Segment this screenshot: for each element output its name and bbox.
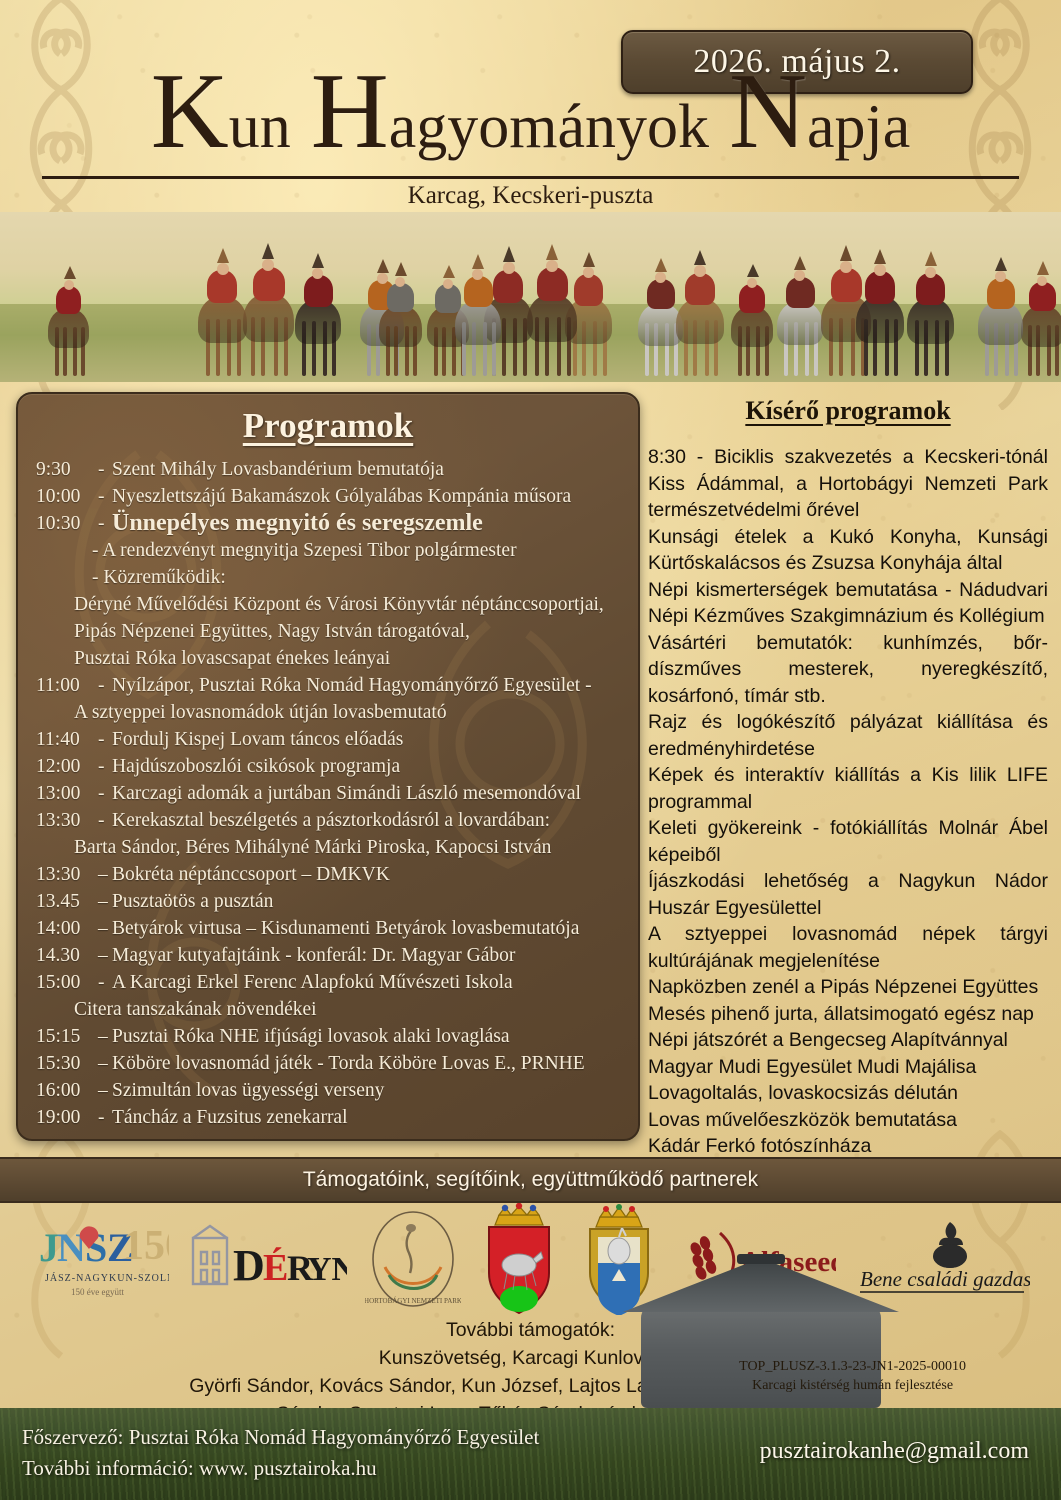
program-text: Bokréta néptánccsoport – DMKVK [112, 861, 628, 888]
horse-body [455, 301, 501, 345]
program-row: 11:40- Fordulj Kispej Lovam táncos előad… [36, 726, 628, 753]
deryne-logo: D É R YN [187, 1209, 347, 1309]
program-dash: - [98, 726, 112, 753]
side-program-item: Magyar Mudi Egyesület Mudi Majálisa [648, 1054, 1048, 1081]
rider-hat-icon [262, 243, 274, 259]
program-time: 15:15 [36, 1023, 98, 1050]
program-text: Betyárok virtusa – Kisdunamenti Betyárok… [112, 915, 628, 942]
program-time: 13:00 [36, 780, 98, 807]
program-row: 13.45–Pusztaötös a pusztán [36, 888, 628, 915]
rider-figure [295, 271, 341, 376]
program-time: 11:00 [36, 672, 98, 699]
rider-hat-icon [995, 257, 1007, 271]
rider-hat-icon [747, 264, 759, 277]
rider-figure [527, 263, 577, 376]
rider-figure [676, 268, 724, 376]
program-row: 14:00–Betyárok virtusa – Kisdunamenti Be… [36, 915, 628, 942]
program-time: 15:30 [36, 1050, 98, 1077]
hortobagyi-nemzeti-park-logo: HORTOBÁGYI NEMZETI PARK [365, 1209, 461, 1309]
program-time: 19:00 [36, 1104, 98, 1131]
rider-head [583, 267, 594, 278]
rider-hat-icon [655, 258, 667, 272]
program-dash: – [98, 888, 112, 915]
side-program-item: Lovagoltalás, lovaskocsizás délután [648, 1080, 1048, 1107]
rider-hat-icon [1037, 261, 1049, 275]
rider-torso [1029, 282, 1056, 311]
title-rest: un [229, 93, 291, 161]
program-time: 13:30 [36, 861, 98, 888]
program-dash: - [98, 510, 112, 537]
program-dash: – [98, 861, 112, 888]
title-rest: agyományok [389, 93, 709, 161]
rider-torso [537, 267, 568, 301]
rider-head [655, 272, 666, 283]
side-programs-title: Kísérő programok [648, 396, 1048, 426]
event-location: Karcag, Kecskeri-puszta [0, 182, 1061, 210]
rider-head [503, 262, 515, 274]
program-text: - A rendezvényt megnyitja Szepesi Tibor … [92, 537, 628, 564]
rider-head [443, 279, 453, 289]
rider-hat-icon [64, 266, 76, 279]
rider-figure [455, 272, 501, 376]
program-text: Kerekasztal beszélgetés a pásztorkodásró… [112, 807, 628, 834]
rider-torso [464, 276, 493, 307]
side-program-item: Lovas művelőeszközök bemutatása [648, 1107, 1048, 1134]
program-text: Pusztai Róka lovascsapat énekes leányai [74, 645, 628, 672]
program-row: 10:00-Nyeszlettszájú Bakamászok Gólyaláb… [36, 483, 628, 510]
title-cap: K [151, 52, 229, 171]
rider-torso [574, 274, 603, 306]
rider-head [995, 271, 1006, 282]
program-dash: – [98, 915, 112, 942]
rider-hat-icon [925, 251, 937, 266]
side-program-item: Keleti gyökereink - fotókiállítás Molnár… [648, 815, 1048, 868]
rider-hat-icon [694, 250, 706, 265]
program-text: Barta Sándor, Béres Mihályné Márki Piros… [74, 834, 628, 861]
rider-head [262, 259, 274, 271]
rider-head [694, 265, 706, 277]
svg-text:J: J [39, 1225, 59, 1270]
rider-figure [48, 282, 89, 376]
svg-text:YN: YN [307, 1251, 347, 1288]
jasz-nagykun-szolnok-logo: J N S Z 150 JÁSZ-NAGYKUN-SZOLNOK 150 éve… [31, 1209, 169, 1309]
rider-head [747, 278, 757, 288]
rider-head [472, 269, 483, 280]
side-program-item: Népi kismerterségek bemutatása - Nádudva… [648, 577, 1048, 630]
footer-left-text: Főszervező: Pusztai Róka Nomád Hagyomány… [22, 1422, 539, 1484]
sponsors-heading-bar: Támogatóink, segítőink, együttműködő par… [0, 1157, 1061, 1203]
rider-head [395, 277, 405, 287]
rider-hat-icon [503, 246, 515, 262]
program-text: Táncház a Fuzsitus zenekarral [112, 1104, 628, 1131]
program-time: 12:00 [36, 753, 98, 780]
contact-email[interactable]: pusztairokanhe@gmail.com [760, 1438, 1029, 1465]
rider-torso [786, 277, 815, 308]
rider-figure [243, 262, 294, 376]
rider-torso [253, 267, 285, 301]
program-text: Nyílzápor, Pusztai Róka Nomád Hagyományő… [112, 672, 628, 699]
rider-head [217, 263, 229, 275]
rider-figure [198, 266, 247, 376]
program-time: 14.30 [36, 942, 98, 969]
event-poster: 2026. május 2. Kun Hagyományok Napja Kar… [0, 0, 1061, 1500]
yurt-roof [623, 1258, 899, 1312]
program-text: Citera tanszakának növendékei [74, 996, 628, 1023]
program-row: 13:30-Kerekasztal beszélgetés a pásztork… [36, 807, 628, 834]
side-program-item: Rajz és logókészítő pályázat kiállítása … [648, 709, 1048, 762]
program-dash: - [98, 969, 112, 996]
program-time: 15:00 [36, 969, 98, 996]
program-dash: - [98, 483, 112, 510]
rider-hat-icon [546, 244, 558, 260]
program-row: Barta Sándor, Béres Mihályné Márki Piros… [36, 834, 628, 861]
sponsors-heading-text: Támogatóink, segítőink, együttműködő par… [303, 1168, 758, 1192]
program-row: 13:30–Bokréta néptánccsoport – DMKVK [36, 861, 628, 888]
horse-body [1021, 306, 1061, 347]
program-row: 15:00-A Karcagi Erkel Ferenc Alapfokú Mű… [36, 969, 628, 996]
program-dash: – [98, 942, 112, 969]
side-programs-panel: Kísérő programok 8:30 - Biciklis szakvez… [648, 392, 1048, 1160]
info-url[interactable]: További információ: www. pusztairoka.hu [22, 1453, 539, 1484]
program-text: Hajdúszoboszlói csikósok programja [112, 753, 628, 780]
program-time: 13.45 [36, 888, 98, 915]
program-row: 12:00-Hajdúszoboszlói csikósok programja [36, 753, 628, 780]
program-row: Pusztai Róka lovascsapat énekes leányai [36, 645, 628, 672]
program-dash: - [98, 456, 112, 483]
program-text: Nyeszlettszájú Bakamászok Gólyalábas Kom… [112, 483, 628, 510]
programs-title: Programok [18, 406, 638, 446]
rider-hat-icon [217, 248, 229, 263]
organizer-text: Főszervező: Pusztai Róka Nomád Hagyomány… [22, 1422, 539, 1453]
horse-body [676, 299, 724, 344]
program-row: 14.30–Magyar kutyafajtáink - konferál: D… [36, 942, 628, 969]
program-time: 16:00 [36, 1077, 98, 1104]
program-dash: – [98, 1023, 112, 1050]
rider-torso [647, 279, 675, 309]
horsemen-banner-image [0, 212, 1061, 382]
side-program-item: Napközben zenél a Pipás Népzenei Együtte… [648, 974, 1048, 1001]
program-row: 9:30-Szent Mihály Lovasbandérium bemutat… [36, 456, 628, 483]
horse-body [777, 302, 823, 345]
yurt-crown [737, 1254, 785, 1264]
rider-head [794, 270, 805, 281]
side-program-item: Képek és interaktív kiállítás a Kis lili… [648, 762, 1048, 815]
svg-text:150: 150 [123, 1223, 169, 1269]
page-title: Kun Hagyományok Napja [0, 58, 1061, 166]
rider-torso [739, 284, 765, 313]
program-row: - A rendezvényt megnyitja Szepesi Tibor … [36, 537, 628, 564]
program-row: - Közreműködik: [36, 564, 628, 591]
svg-text:HORTOBÁGYI NEMZETI PARK: HORTOBÁGYI NEMZETI PARK [365, 1297, 461, 1305]
rider-figure [856, 267, 904, 376]
program-time: 10:30 [36, 510, 98, 537]
project-description: Karcagi kistérség humán fejlesztése [739, 1376, 966, 1395]
title-divider [42, 176, 1019, 179]
side-programs-list: 8:30 - Biciklis szakvezetés a Kecskeri-t… [648, 444, 1048, 1160]
program-time: 14:00 [36, 915, 98, 942]
rider-hat-icon [395, 262, 407, 276]
title-rest: apja [807, 93, 910, 161]
rider-hat-icon [583, 252, 595, 267]
program-row: 19:00-Táncház a Fuzsitus zenekarral [36, 1104, 628, 1131]
program-text: Fordulj Kispej Lovam táncos előadás [112, 726, 628, 753]
svg-text:É: É [263, 1247, 288, 1289]
rider-head [312, 268, 323, 279]
rider-torso [387, 283, 414, 312]
programs-list: 9:30-Szent Mihály Lovasbandérium bemutat… [18, 456, 638, 1131]
rider-torso [304, 275, 333, 307]
project-code: TOP_PLUSZ-3.1.3-23-JN1-2025-00010 [739, 1357, 966, 1376]
horse-body [731, 307, 773, 347]
rider-figure [731, 280, 773, 376]
poster-header: 2026. május 2. Kun Hagyományok Napja Kar… [0, 0, 1061, 215]
rider-head [64, 280, 74, 290]
rider-hat-icon [874, 249, 886, 264]
program-dash: - [98, 780, 112, 807]
svg-text:150 éve együtt: 150 éve együtt [71, 1287, 124, 1297]
program-text: Szent Mihály Lovasbandérium bemutatója [112, 456, 628, 483]
rider-head [874, 264, 886, 276]
program-dash: - [98, 753, 112, 780]
project-info: TOP_PLUSZ-3.1.3-23-JN1-2025-00010 Karcag… [739, 1357, 966, 1395]
horse-body [48, 309, 89, 348]
rider-head [925, 267, 936, 278]
rider-figure [978, 274, 1023, 376]
title-word-3: Napja [729, 58, 910, 166]
side-program-item: Kádár Ferkó fotószínháza [648, 1133, 1048, 1160]
program-dash: - [98, 1104, 112, 1131]
rider-figure [1021, 278, 1061, 376]
program-row: 10:30-Ünnepélyes megnyitó és seregszemle [36, 510, 628, 537]
rider-hat-icon [794, 256, 806, 270]
program-text: Pusztai Róka NHE ifjúsági lovasok alaki … [112, 1023, 628, 1050]
karcag-cimer-logo [479, 1209, 559, 1309]
program-text: Pusztaötös a pusztán [112, 888, 628, 915]
programs-panel: Programok 9:30-Szent Mihály Lovasbandéri… [16, 392, 640, 1141]
program-time: 13:30 [36, 807, 98, 834]
horse-body [527, 295, 577, 342]
program-text: A Karcagi Erkel Ferenc Alapfokú Művészet… [112, 969, 628, 996]
horse-body [243, 294, 294, 342]
horse-body [907, 299, 954, 344]
program-row: Déryné Művelődési Központ és Városi Köny… [36, 591, 628, 618]
rider-hat-icon [377, 259, 389, 273]
program-text: Karczagi adomák a jurtában Simándi Lászl… [112, 780, 628, 807]
side-program-item: Kunsági ételek a Kukó Konyha, Kunsági Kü… [648, 524, 1048, 577]
title-cap: H [311, 52, 389, 171]
program-row: Citera tanszakának növendékei [36, 996, 628, 1023]
svg-text:D: D [233, 1241, 265, 1290]
program-dash: – [98, 1077, 112, 1104]
program-text: Déryné Művelődési Központ és Városi Köny… [74, 591, 628, 618]
program-row: 11:00-Nyílzápor, Pusztai Róka Nomád Hagy… [36, 672, 628, 699]
program-text: Szimultán lovas ügyességi verseny [112, 1077, 628, 1104]
rider-head [546, 260, 558, 272]
title-cap: N [729, 52, 807, 171]
rider-torso [56, 286, 81, 314]
program-row: 15:30–Köböre lovasnomád játék - Torda Kö… [36, 1050, 628, 1077]
program-text: Ünnepélyes megnyitó és seregszemle [112, 510, 628, 537]
horse-body [198, 297, 247, 343]
poster-footer: Főszervező: Pusztai Róka Nomád Hagyomány… [0, 1408, 1061, 1500]
program-text: Magyar kutyafajtáink - konferál: Dr. Mag… [112, 942, 628, 969]
rider-hat-icon [840, 245, 852, 261]
program-row: Pipás Népzenei Együttes, Nagy István tár… [36, 618, 628, 645]
side-program-item: Íjászkodási lehetőség a Nagykun Nádor Hu… [648, 868, 1048, 921]
svg-text:JÁSZ-NAGYKUN-SZOLNOK: JÁSZ-NAGYKUN-SZOLNOK [45, 1272, 169, 1284]
program-dash: – [98, 1050, 112, 1077]
side-program-item: 8:30 - Biciklis szakvezetés a Kecskeri-t… [648, 444, 1048, 524]
program-row: 16:00–Szimultán lovas ügyességi verseny [36, 1077, 628, 1104]
main-content: Programok 9:30-Szent Mihály Lovasbandéri… [0, 382, 1061, 1152]
program-row: 15:15–Pusztai Róka NHE ifjúsági lovasok … [36, 1023, 628, 1050]
title-word-1: Kun [151, 58, 291, 166]
rider-hat-icon [312, 253, 324, 268]
rider-figure [907, 269, 954, 376]
rider-hat-icon [443, 265, 455, 278]
rider-figure [379, 279, 422, 376]
side-program-item: Népi játszórét a Bengecseg Alapítvánnyal [648, 1027, 1048, 1054]
horse-body [379, 306, 422, 347]
program-row: A sztyeppei lovasnomádok útján lovasbemu… [36, 699, 628, 726]
program-time: 9:30 [36, 456, 98, 483]
side-program-item: Mesés pihenő jurta, állatsimogató egész … [648, 1001, 1048, 1028]
program-time: 10:00 [36, 483, 98, 510]
program-text: A sztyeppei lovasnomádok útján lovasbemu… [74, 699, 628, 726]
rider-head [840, 261, 852, 273]
rider-torso [987, 278, 1015, 309]
rider-hat-icon [472, 254, 484, 269]
program-text: - Közreműködik: [92, 564, 628, 591]
side-program-item: Vásártéri bemutatók: kunhímzés, bőr-dísz… [648, 630, 1048, 710]
title-word-2: Hagyományok [311, 58, 709, 166]
program-text: Pipás Népzenei Együttes, Nagy István tár… [74, 618, 628, 645]
side-program-item: A sztyeppei lovasnomád népek tárgyi kult… [648, 921, 1048, 974]
rider-figure [777, 273, 823, 376]
program-text: Köböre lovasnomád játék - Torda Köböre L… [112, 1050, 628, 1077]
rider-head [1037, 276, 1047, 286]
program-time: 11:40 [36, 726, 98, 753]
program-dash: - [98, 672, 112, 699]
rider-torso [685, 273, 715, 305]
program-row: 13:00-Karczagi adomák a jurtában Simándi… [36, 780, 628, 807]
program-dash: - [98, 807, 112, 834]
